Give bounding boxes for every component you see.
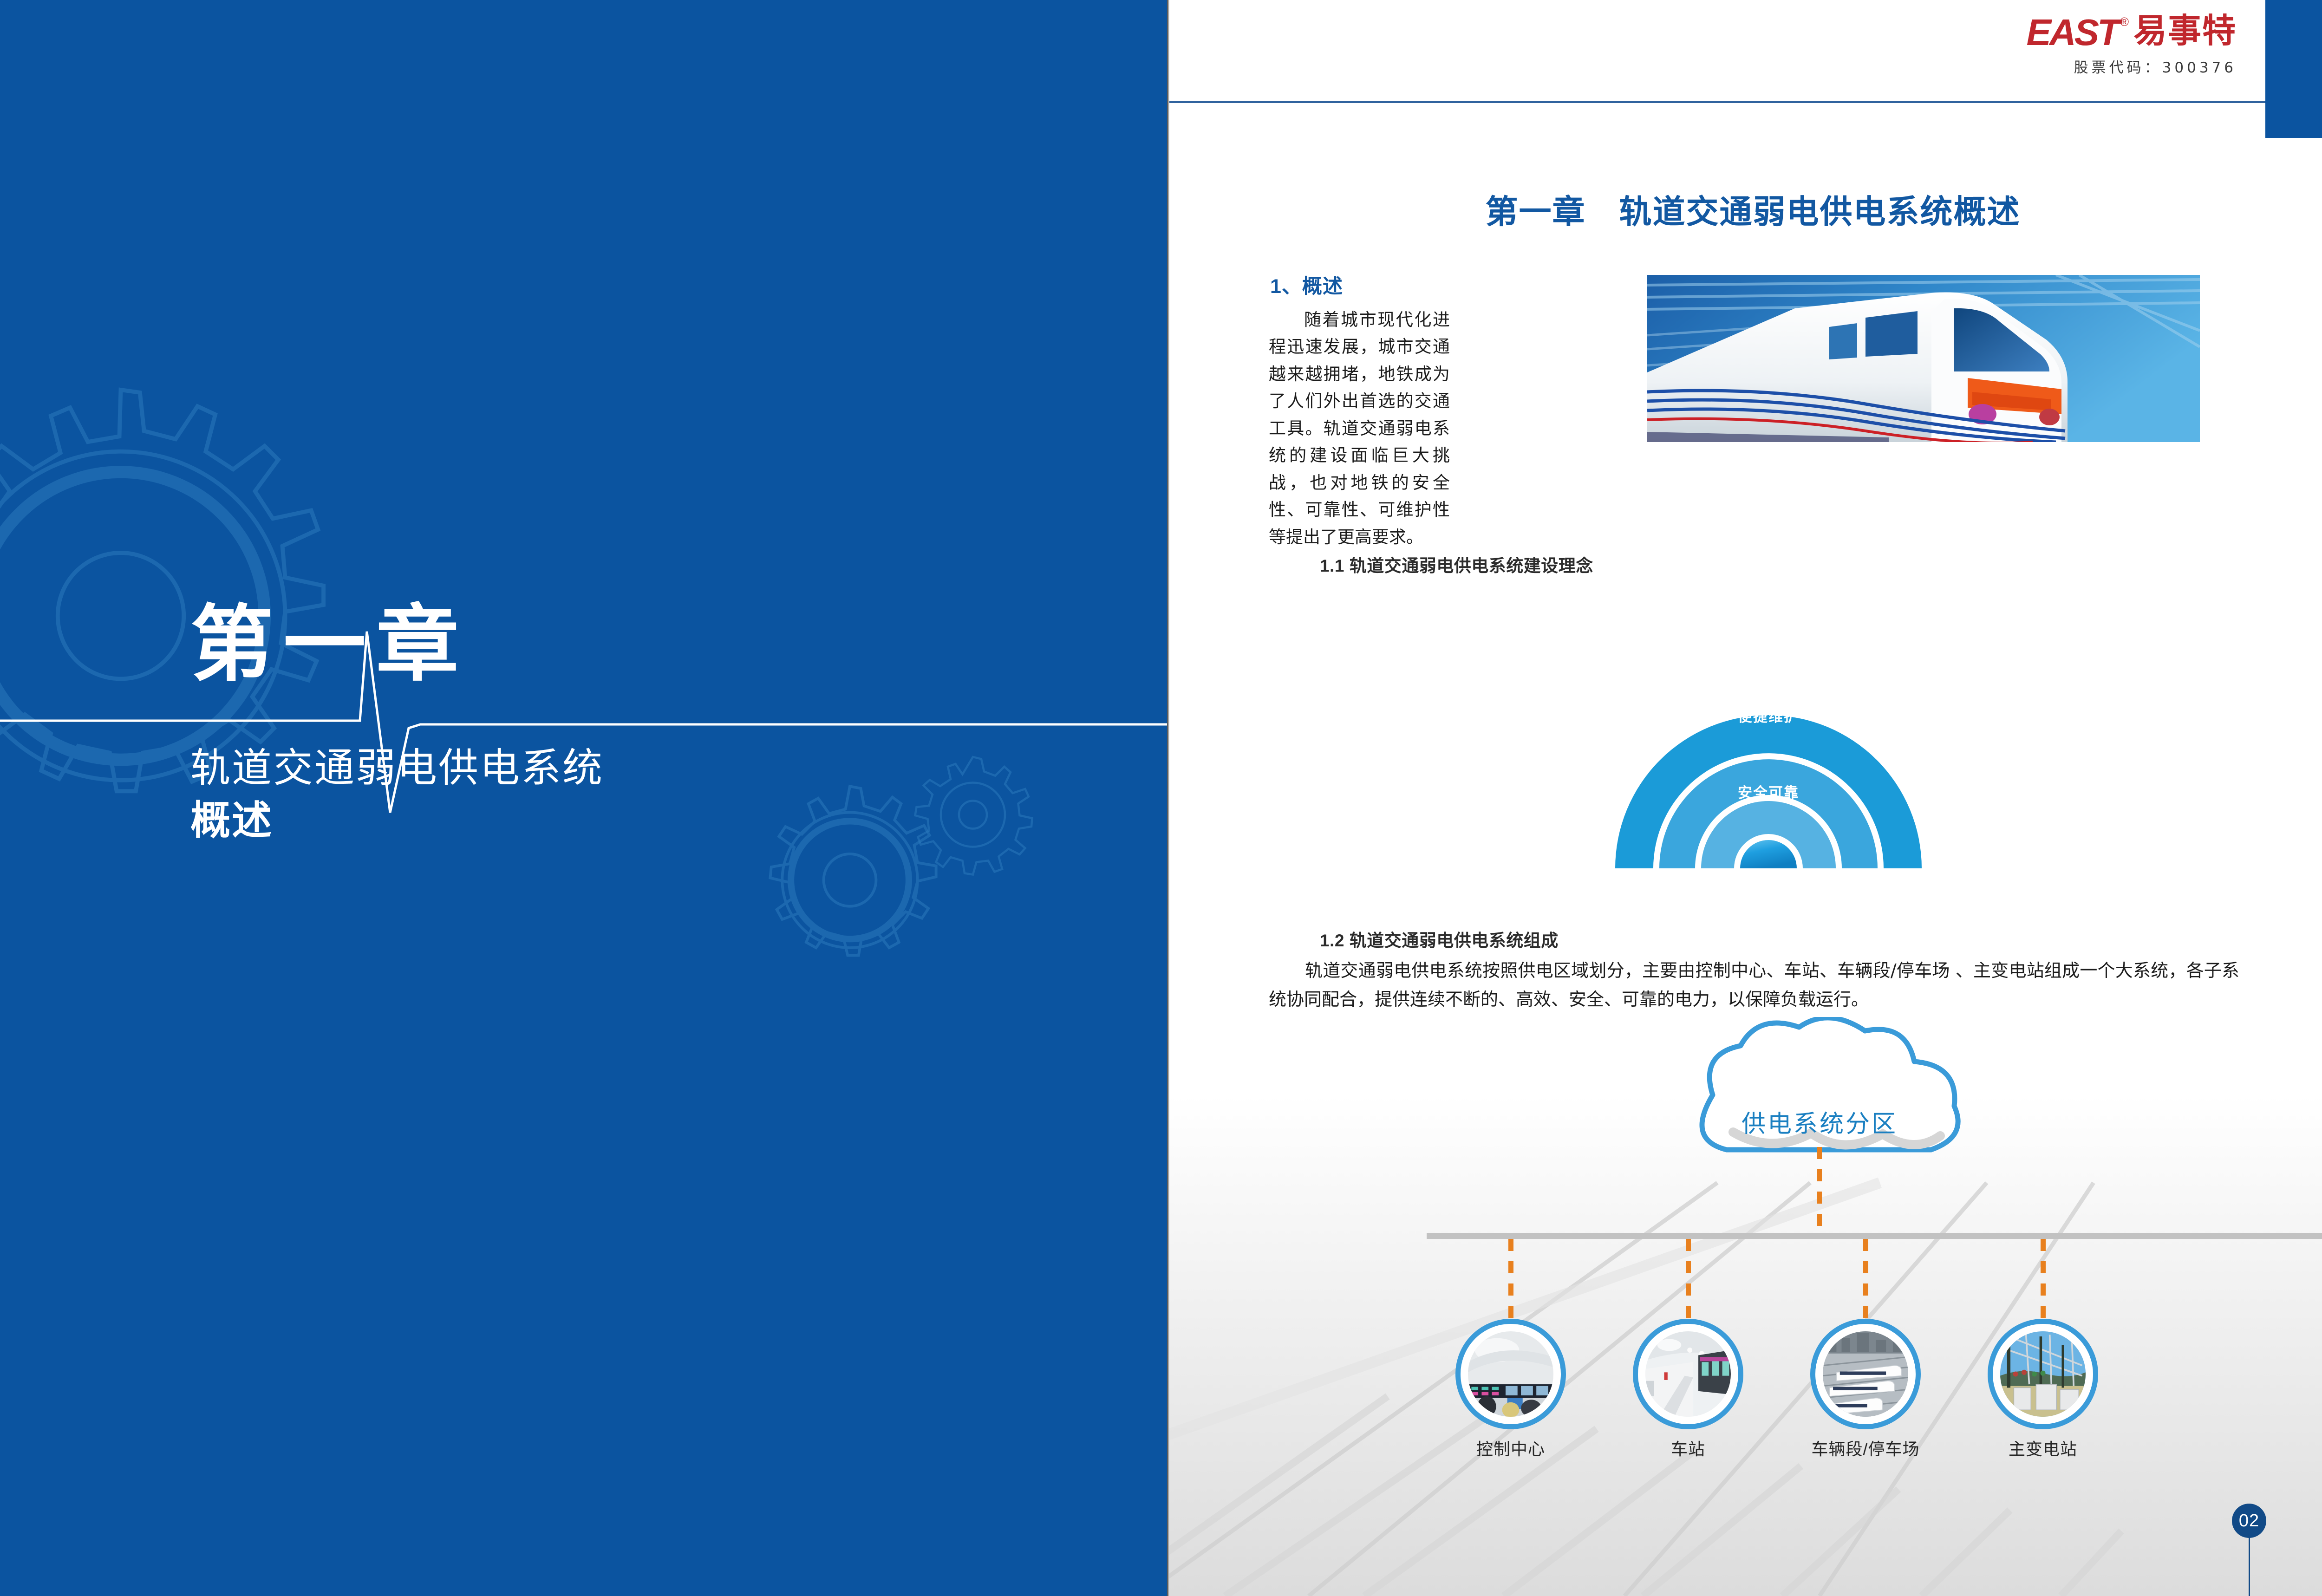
section-1-2-heading: 1.2 轨道交通弱电供电系统组成 [1320, 926, 1559, 951]
node-label-4: 主变电站 [1988, 1436, 2098, 1460]
page-number-badge: 02 [2232, 1504, 2266, 1538]
arch-layer-label-3: 便捷维护 [1606, 705, 1931, 726]
node-ring [1810, 1319, 1921, 1429]
section-1-1-heading: 1.1 轨道交通弱电供电系统建设理念 [1320, 552, 1593, 577]
header-blue-block [2265, 0, 2322, 138]
node-label-2: 车站 [1633, 1436, 1743, 1460]
node-control-center[interactable]: 控制中心 [1455, 1319, 1566, 1429]
arch-layer-label-1: 绿色环保 [1606, 603, 1931, 624]
connector-dash-node-4 [2041, 1239, 2046, 1319]
connector-dash-cloud [1817, 1147, 1822, 1233]
content-page: EAST ® 易事特 股票代码：300376 第一章 轨道交通弱电供电系统概述 … [1169, 0, 2322, 1596]
cover-subtitle-line2: 概述 [190, 795, 980, 847]
page-number-stem [2249, 1537, 2250, 1596]
node-ring [1633, 1319, 1743, 1429]
section-1-2-paragraph: 轨道交通弱电供电系统按照供电区域划分，主要由控制中心、车站、车辆段/停车场 、主… [1269, 957, 2239, 1014]
node-label-3: 车辆段/停车场 [1810, 1436, 1921, 1460]
node-ring [1455, 1319, 1566, 1429]
concept-arch-diagram: 绿色环保 智能管理 便捷维护 安全可靠 [1606, 590, 1931, 868]
node-label-1: 控制中心 [1455, 1436, 1566, 1460]
stock-code-label: 股票代码：300376 [2026, 56, 2237, 77]
train-photo [1647, 275, 2200, 442]
header-rule [1169, 101, 2265, 103]
substation-photo [1998, 1329, 2088, 1419]
brand-logo: EAST ® 易事特 股票代码：300376 [2026, 14, 2237, 77]
depot-trains-photo [1820, 1329, 1911, 1419]
arch-layer-label-2: 智能管理 [1606, 655, 1931, 676]
cloud-label: 供电系统分区 [1634, 1104, 2005, 1139]
chapter-cover-panel: 第一章 轨道交通弱电供电系统 概述 [0, 0, 1167, 1596]
cover-chapter-number: 第一章 [190, 601, 980, 688]
spread-page: 第一章 轨道交通弱电供电系统 概述 [0, 0, 2322, 1596]
node-ring [1988, 1319, 2098, 1429]
connector-dash-node-3 [1863, 1239, 1868, 1319]
node-station[interactable]: 车站 [1633, 1319, 1743, 1429]
connector-dash-node-1 [1508, 1239, 1513, 1319]
node-depot[interactable]: 车辆段/停车场 [1810, 1319, 1921, 1429]
logo-east-text: EAST [2026, 14, 2118, 51]
section-1-heading: 1、概述 [1270, 270, 1343, 299]
page-title: 第一章 轨道交通弱电供电系统概述 [1169, 186, 2322, 233]
connector-dash-node-2 [1686, 1239, 1691, 1319]
registered-mark-icon: ® [2120, 16, 2129, 28]
distribution-bus-bar [1427, 1233, 2322, 1239]
cover-subtitle-line1: 轨道交通弱电供电系统 [190, 742, 980, 795]
section-1-paragraph: 随着城市现代化进程迅速发展，城市交通越来越拥堵，地铁成为了人们外出首选的交通工具… [1269, 306, 1450, 551]
arch-layer-label-4: 安全可靠 [1606, 781, 1931, 802]
cover-subtitle: 轨道交通弱电供电系统 概述 [190, 742, 980, 847]
cover-text-block: 第一章 轨道交通弱电供电系统 概述 [190, 601, 980, 847]
station-platform-photo [1643, 1329, 1733, 1419]
control-center-photo [1466, 1329, 1556, 1419]
node-substation[interactable]: 主变电站 [1988, 1319, 2098, 1429]
logo-chinese-text: 易事特 [2133, 14, 2237, 47]
